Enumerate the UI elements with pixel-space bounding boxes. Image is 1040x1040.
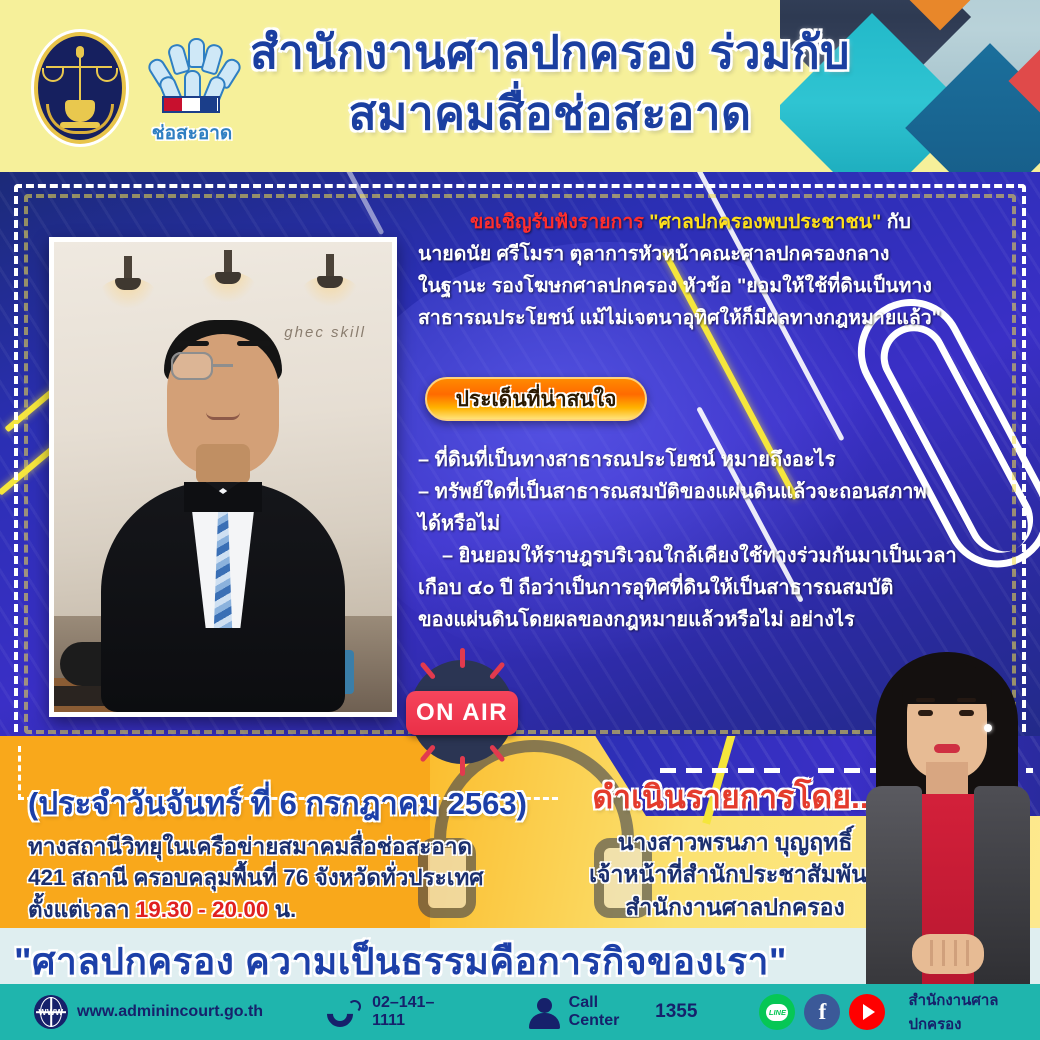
intro-line1-with: กับ [887,211,911,233]
broadcast-date: (ประจำวันจันทร์ ที่ 6 กรกฎาคม 2563) [28,778,558,828]
intro-line-4: สาธารณประโยชน์ แม้ไม่เจตนาอุทิศให้ก็มีผล… [418,304,978,333]
host-presenter-photo [852,644,1040,984]
topic-item: – ยินยอมให้ราษฎรบริเวณใกล้เคียงใช้ทางร่ว… [418,541,998,571]
footer-call-center-item[interactable]: Call Center 1355 [528,994,698,1030]
footer-phone-text: 02–141–1111 [372,994,462,1030]
on-air-label: ON AIR [416,699,508,727]
footer-social-name: สำนักงานศาลปกครอง [908,988,1040,1036]
broadcast-info-block: (ประจำวันจันทร์ ที่ 6 กรกฎาคม 2563) ทางส… [28,778,558,926]
photo-background-sign: ghec skill [284,324,366,341]
broadcast-coverage: 421 สถานี ครอบคลุมพื้นที่ 76 จังหวัดทั่ว… [28,863,558,892]
person-icon [528,995,560,1029]
chor-sa-ard-label: ช่อสะอาด [140,118,244,148]
topic-item: – ทรัพย์ใดที่เป็นสาธารณสมบัติของแผ่นดินแ… [418,477,998,507]
phone-icon [325,995,363,1029]
intro-line1-program: "ศาลปกครองพบประชาชน" [649,211,881,233]
youtube-icon[interactable] [849,994,885,1030]
footer-social-item: LINE f สำนักงานศาลปกครอง [759,988,1040,1036]
broadcast-time-suffix: น. [275,897,297,922]
broadcast-time-row: ตั้งแต่เวลา 19.30 - 20.00 น. [28,895,558,924]
line-icon-label: LINE [766,1004,788,1021]
line-icon[interactable]: LINE [759,994,795,1030]
header-banner: ช่อสะอาด สำนักงานศาลปกครอง ร่วมกับ สมาคม… [0,0,1040,172]
header-title: สำนักงานศาลปกครอง ร่วมกับ สมาคมสื่อช่อสะ… [230,22,870,143]
footer-contact-bar: WWW www.adminincourt.go.th 02–141–1111 C… [0,984,1040,1040]
topic-item: ได้หรือไม่ [418,509,998,539]
topics-badge: ประเด็นที่น่าสนใจ [425,377,647,421]
intro-line-2: นายดนัย ศรีโมรา ตุลาการหัวหน้าคณะศาลปกคร… [418,240,978,269]
footer-call-center-label: Call Center [569,994,646,1030]
intro-line-1: ขอเชิญรับฟังรายการ "ศาลปกครองพบประชาชน" … [418,208,978,237]
topic-item: – ที่ดินที่เป็นทางสาธารณประโยชน์ หมายถึง… [418,445,998,475]
footer-website-item[interactable]: WWW www.adminincourt.go.th [34,995,263,1029]
broadcast-time-value: 19.30 - 20.00 [136,897,269,922]
footer-website-text: www.adminincourt.go.th [77,1003,263,1021]
footer-call-center-number: 1355 [655,1001,697,1023]
topic-item: ของแผ่นดินโดยผลของกฎหมายแล้วหรือไม่ อย่า… [418,605,998,635]
topic-item: เกือบ ๔๐ ปี ถือว่าเป็นการอุทิศที่ดินให้เ… [418,573,998,603]
intro-line1-red: ขอเชิญรับฟังรายการ [470,211,644,233]
social-icons-group: LINE f [759,994,885,1030]
slogan-text: "ศาลปกครอง ความเป็นธรรมคือการกิจของเรา" [14,932,787,984]
intro-line-3: ในฐานะ รองโฆษกศาลปกครอง หัวข้อ "ยอมให้ใช… [418,272,978,301]
header-title-line1: สำนักงานศาลปกครอง ร่วมกับ [230,22,870,83]
on-air-badge: ON AIR [398,648,526,776]
globe-icon: WWW [34,995,68,1029]
broadcast-time-prefix: ตั้งแต่เวลา [28,897,129,922]
intro-text-block: ขอเชิญรับฟังรายการ "ศาลปกครองพบประชาชน" … [418,208,978,335]
administrative-court-seal-icon [34,32,126,144]
header-title-line2: สมาคมสื่อช่อสะอาด [230,83,870,144]
thai-flag-ribbon-icon [162,96,220,113]
guest-judge-portrait: ghec skill [49,237,397,717]
broadcast-channel: ทางสถานีวิทยุในเครือข่ายสมาคมสื่อช่อสะอา… [28,832,558,861]
chor-sa-ard-logo-icon: ช่อสะอาด [140,36,244,146]
facebook-icon-label: f [819,999,827,1025]
topics-badge-label: ประเด็นที่น่าสนใจ [456,383,617,416]
topics-list: – ที่ดินที่เป็นทางสาธารณประโยชน์ หมายถึง… [418,445,998,637]
globe-www-text: WWW [34,995,68,1029]
footer-phone-item[interactable]: 02–141–1111 [325,994,462,1030]
poster-root: ช่อสะอาด สำนักงานศาลปกครอง ร่วมกับ สมาคม… [0,0,1040,1040]
facebook-icon[interactable]: f [804,994,840,1030]
